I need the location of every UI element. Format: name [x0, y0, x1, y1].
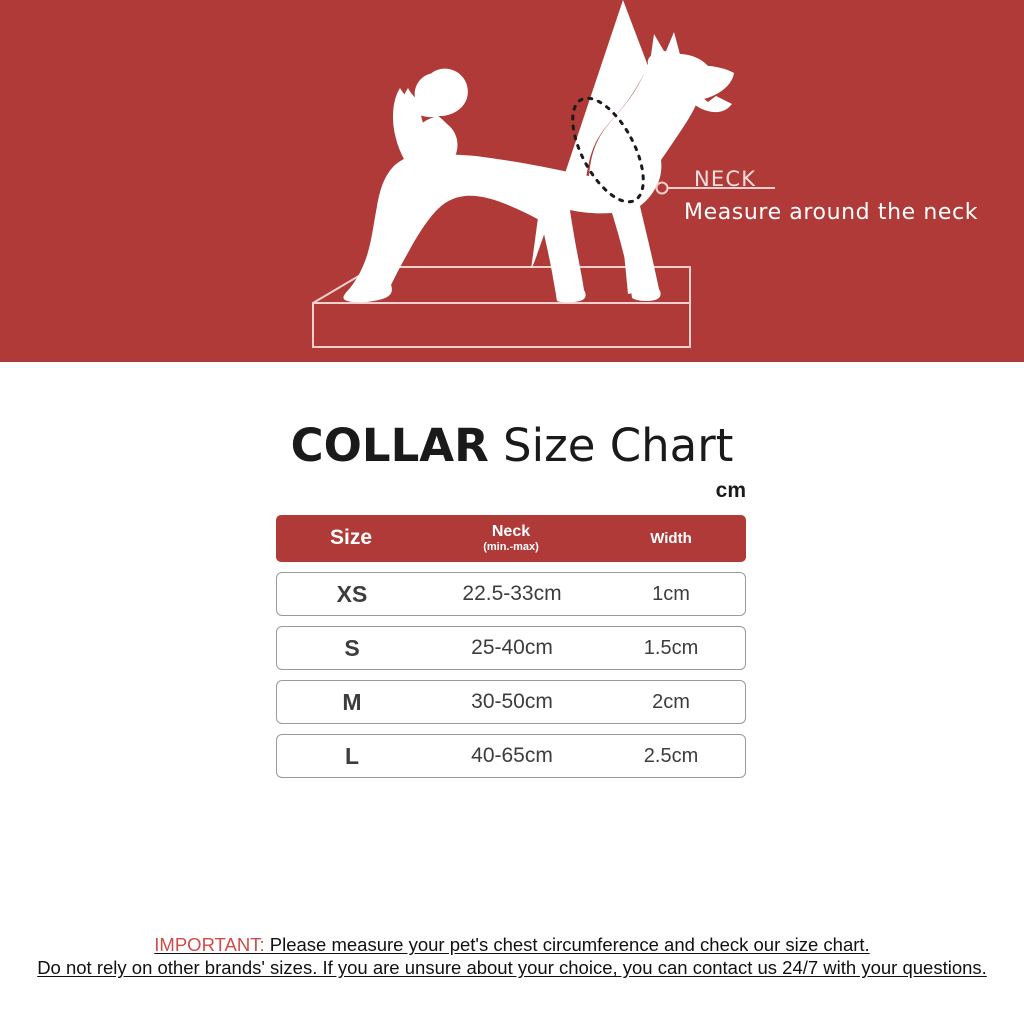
table-header-row: Size Neck (min.-max) Width [276, 515, 746, 562]
neck-leader-dot [657, 183, 668, 194]
header-neck-sublabel: (min.-max) [426, 542, 596, 554]
cell-neck: 22.5-33cm [427, 582, 597, 606]
footer-line-2: Do not rely on other brands' sizes. If y… [0, 956, 1024, 979]
footer-note: IMPORTANT: Please measure your pet's che… [0, 933, 1024, 979]
cell-width: 2.5cm [597, 745, 745, 768]
table-row: M 30-50cm 2cm [276, 680, 746, 724]
cell-width: 2cm [597, 691, 745, 714]
footer-line-1: IMPORTANT: Please measure your pet's che… [0, 933, 1024, 956]
footer-line-2-text: Do not rely on other brands' sizes. If y… [37, 957, 987, 978]
important-label: IMPORTANT: [154, 934, 264, 955]
table-row: XS 22.5-33cm 1cm [276, 572, 746, 616]
neck-callout-label: NECK [694, 167, 756, 191]
cell-size: M [277, 689, 427, 716]
header-neck-label: Neck [492, 523, 530, 540]
header-size: Size [276, 527, 426, 549]
header-width: Width [596, 531, 746, 547]
table-row: L 40-65cm 2.5cm [276, 734, 746, 778]
cell-neck: 30-50cm [427, 690, 597, 714]
cell-size: S [277, 635, 427, 662]
cell-width: 1cm [597, 583, 745, 606]
dog-shape-group [350, 32, 734, 303]
cell-neck: 25-40cm [427, 636, 597, 660]
page-title-light: Size Chart [489, 419, 734, 472]
neck-callout-instruction: Measure around the neck [684, 200, 978, 225]
table-row: S 25-40cm 1.5cm [276, 626, 746, 670]
cell-size: XS [277, 581, 427, 608]
cell-width: 1.5cm [597, 637, 745, 660]
page-title: COLLAR Size Chart [0, 419, 1024, 472]
hero-banner: NECK Measure around the neck [0, 0, 1024, 362]
footer-line-1-text: Please measure your pet's chest circumfe… [265, 934, 870, 955]
page-title-bold: COLLAR [291, 419, 489, 472]
cell-size: L [277, 743, 427, 770]
size-chart-table: Size Neck (min.-max) Width XS 22.5-33cm … [276, 515, 746, 778]
cell-neck: 40-65cm [427, 744, 597, 768]
dog-illustration [0, 0, 1024, 362]
unit-label: cm [0, 479, 746, 503]
header-neck: Neck (min.-max) [426, 524, 596, 553]
